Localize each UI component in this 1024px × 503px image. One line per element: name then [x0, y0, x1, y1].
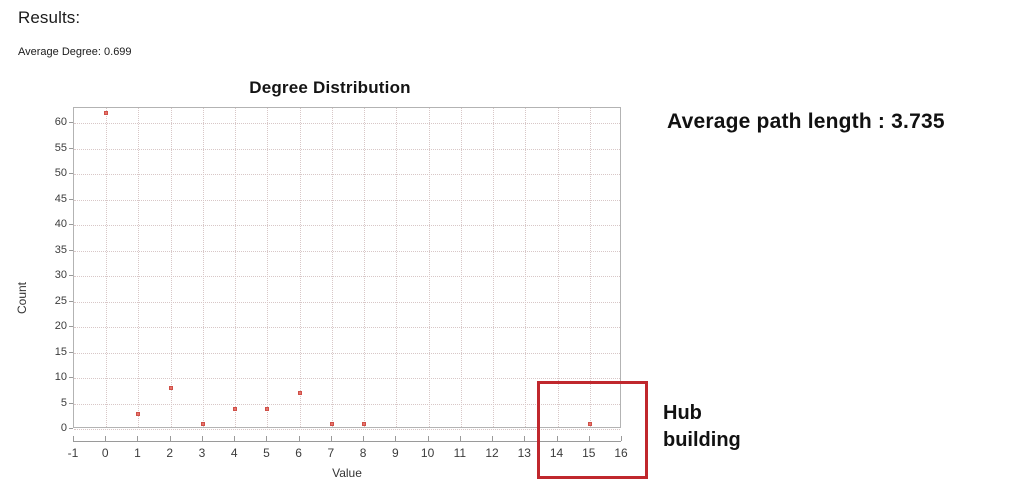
gridline-horizontal: [74, 123, 620, 124]
gridline-vertical: [106, 108, 107, 427]
x-axis-tick-label: 5: [249, 446, 283, 460]
y-axis-tick-mark: [69, 377, 73, 378]
y-axis-tick-label: 30: [27, 269, 67, 281]
y-axis-tick-mark: [69, 301, 73, 302]
y-axis-tick-mark: [69, 148, 73, 149]
data-point: [136, 412, 140, 416]
x-axis-tick-mark: [395, 436, 396, 441]
x-axis-tick-mark: [299, 436, 300, 441]
x-axis-tick-mark: [234, 436, 235, 441]
x-axis-tick-mark: [460, 436, 461, 441]
gridline-vertical: [138, 108, 139, 427]
x-axis-tick-label: 12: [475, 446, 509, 460]
x-axis-tick-mark: [73, 436, 74, 441]
gridline-vertical: [493, 108, 494, 427]
y-axis-tick-label: 35: [27, 244, 67, 256]
y-axis-tick-label: 25: [27, 295, 67, 307]
x-axis-tick-mark: [331, 436, 332, 441]
y-axis-tick-mark: [69, 403, 73, 404]
y-axis-label: Count: [15, 282, 29, 314]
y-axis-tick-label: 10: [27, 371, 67, 383]
gridline-horizontal: [74, 302, 620, 303]
hub-highlight-box: [537, 381, 648, 479]
x-axis-tick-label: 7: [314, 446, 348, 460]
y-axis-tick-mark: [69, 326, 73, 327]
gridline-vertical: [525, 108, 526, 427]
hub-building-label: Hub building: [663, 400, 741, 454]
y-axis-tick-mark: [69, 250, 73, 251]
data-point: [233, 407, 237, 411]
average-path-length-text: Average path length : 3.735: [667, 110, 945, 134]
data-point: [362, 422, 366, 426]
gridline-horizontal: [74, 200, 620, 201]
x-axis-tick-label: 0: [88, 446, 122, 460]
y-axis-tick-mark: [69, 428, 73, 429]
plot-area: [73, 107, 621, 428]
y-axis-tick-label: 20: [27, 320, 67, 332]
data-point: [104, 111, 108, 115]
gridline-horizontal: [74, 327, 620, 328]
gridline-vertical: [235, 108, 236, 427]
x-axis-tick-mark: [105, 436, 106, 441]
y-axis-tick-mark: [69, 199, 73, 200]
y-axis-tick-mark: [69, 173, 73, 174]
chart-title: Degree Distribution: [0, 78, 660, 98]
x-axis-tick-mark: [137, 436, 138, 441]
x-axis-tick-label: 2: [153, 446, 187, 460]
gridline-vertical: [364, 108, 365, 427]
y-axis-tick-label: 0: [27, 422, 67, 434]
gridline-vertical: [267, 108, 268, 427]
gridline-horizontal: [74, 225, 620, 226]
y-axis-tick-label: 50: [27, 167, 67, 179]
gridline-horizontal: [74, 149, 620, 150]
x-axis-tick-mark: [492, 436, 493, 441]
y-axis-tick-label: 55: [27, 142, 67, 154]
x-axis-tick-label: 4: [217, 446, 251, 460]
x-axis-tick-label: 11: [443, 446, 477, 460]
gridline-horizontal: [74, 378, 620, 379]
x-axis-tick-mark: [170, 436, 171, 441]
chart-data-points: [74, 108, 620, 427]
y-axis-tick-label: 5: [27, 397, 67, 409]
x-axis-tick-mark: [524, 436, 525, 441]
x-axis-tick-mark: [363, 436, 364, 441]
y-axis-tick-mark: [69, 224, 73, 225]
page-title: Results:: [18, 8, 80, 28]
gridline-vertical: [300, 108, 301, 427]
x-axis-tick-label: 3: [185, 446, 219, 460]
x-axis-tick-mark: [428, 436, 429, 441]
chart-gridlines: [74, 108, 620, 427]
y-axis-tick-label: 60: [27, 116, 67, 128]
y-axis-tick-label: 15: [27, 346, 67, 358]
data-point: [330, 422, 334, 426]
gridline-horizontal: [74, 174, 620, 175]
y-axis-tick-label: 40: [27, 218, 67, 230]
x-axis-tick-label: 6: [282, 446, 316, 460]
data-point: [265, 407, 269, 411]
gridline-vertical: [558, 108, 559, 427]
gridline-vertical: [429, 108, 430, 427]
data-point: [201, 422, 205, 426]
gridline-vertical: [203, 108, 204, 427]
x-axis-tick-mark: [266, 436, 267, 441]
x-axis-tick-label: 9: [378, 446, 412, 460]
y-axis-tick-label: 45: [27, 193, 67, 205]
gridline-vertical: [461, 108, 462, 427]
x-axis-tick-label: 1: [120, 446, 154, 460]
average-degree-text: Average Degree: 0.699: [18, 46, 132, 58]
gridline-horizontal: [74, 353, 620, 354]
data-point: [298, 391, 302, 395]
y-axis-tick-mark: [69, 275, 73, 276]
y-axis-tick-mark: [69, 352, 73, 353]
hub-building-label-line1: Hub: [663, 400, 741, 427]
gridline-horizontal: [74, 251, 620, 252]
hub-building-label-line2: building: [663, 427, 741, 454]
x-axis-tick-label: 8: [346, 446, 380, 460]
x-axis-tick-mark: [202, 436, 203, 441]
x-axis-tick-label: 10: [411, 446, 445, 460]
gridline-vertical: [332, 108, 333, 427]
data-point: [169, 386, 173, 390]
gridline-vertical: [590, 108, 591, 427]
y-axis-tick-mark: [69, 122, 73, 123]
gridline-vertical: [396, 108, 397, 427]
gridline-vertical: [171, 108, 172, 427]
x-axis-tick-label: -1: [56, 446, 90, 460]
gridline-horizontal: [74, 276, 620, 277]
